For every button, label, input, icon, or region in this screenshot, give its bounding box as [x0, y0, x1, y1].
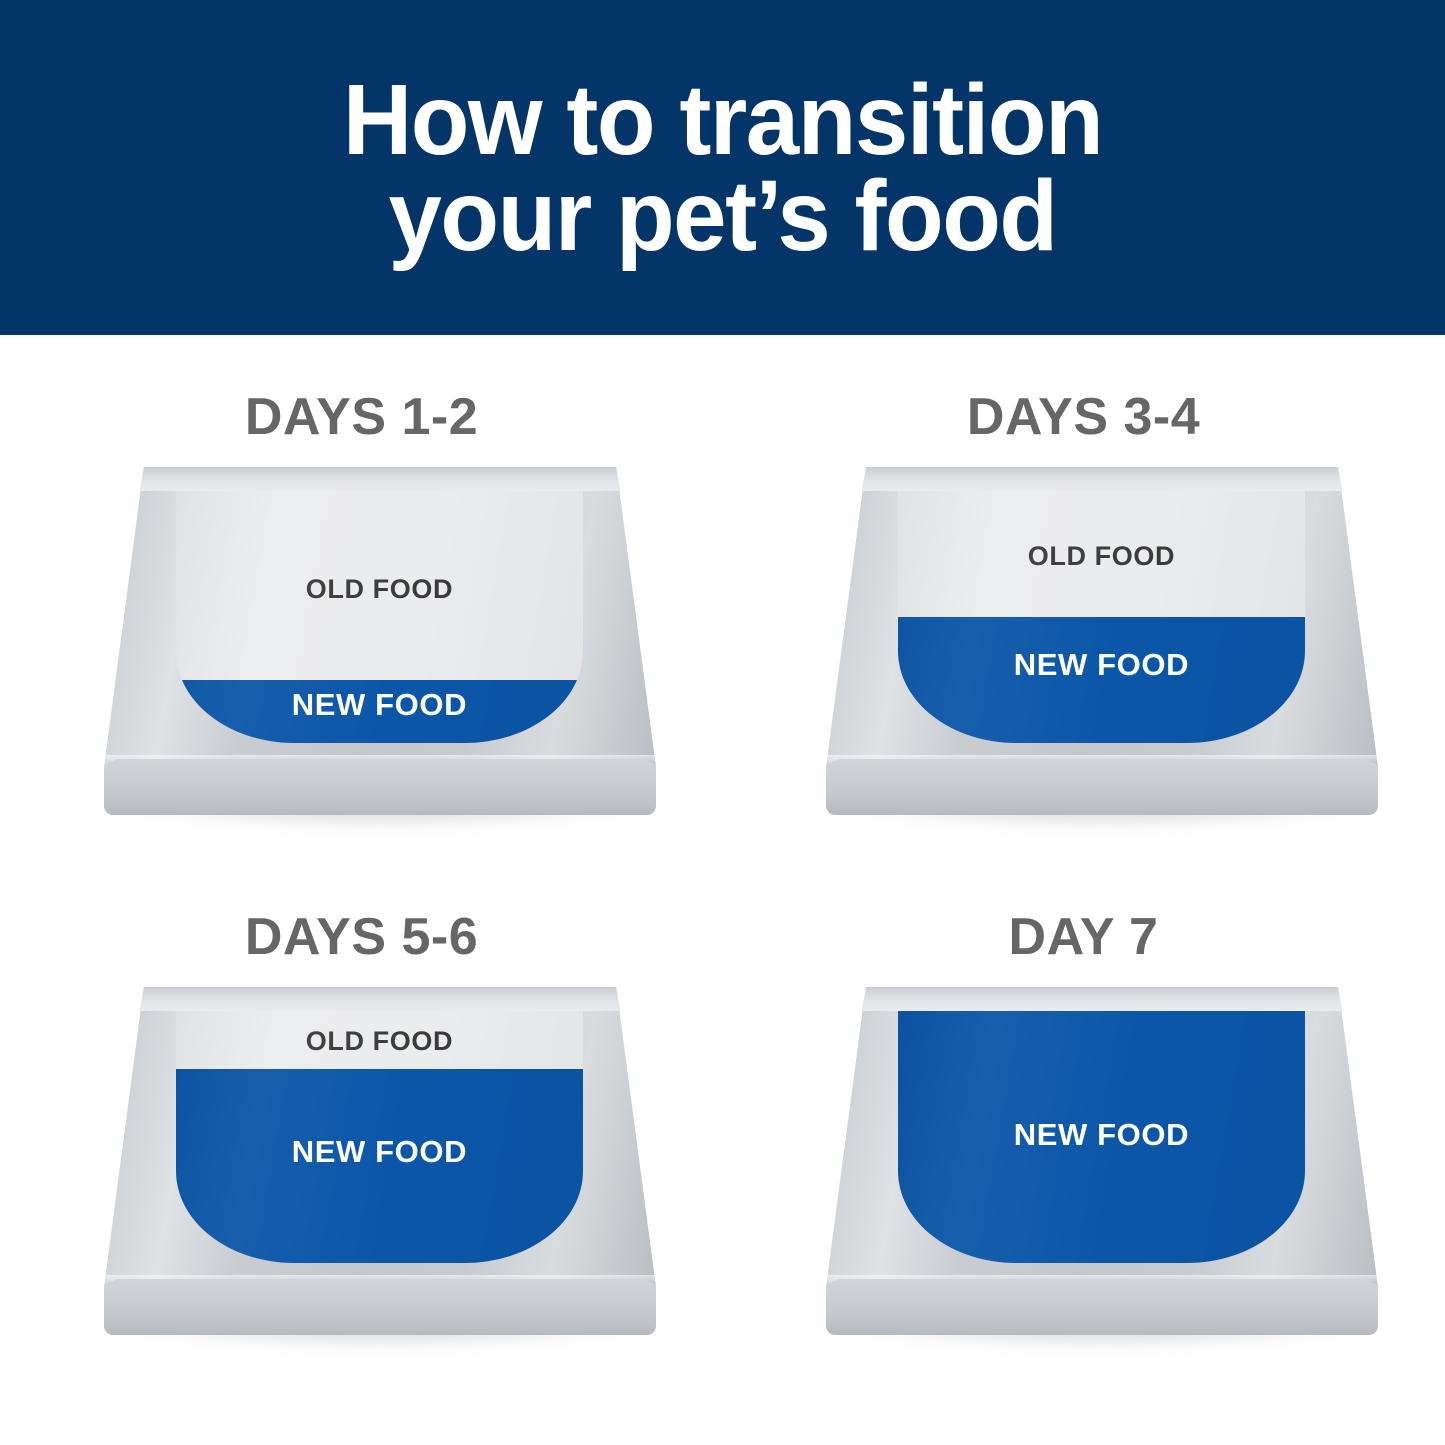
food-window: OLD FOOD NEW FOOD	[898, 491, 1304, 743]
food-bowl-day-7: NEW FOOD	[826, 987, 1378, 1335]
old-food-label: OLD FOOD	[176, 1026, 582, 1057]
bowl-base	[104, 759, 656, 815]
transition-step-day-7: DAY 7 NEW FOOD	[722, 855, 1445, 1410]
bowl-base	[104, 1279, 656, 1335]
bowl-rim	[826, 467, 1378, 491]
new-food-label: NEW FOOD	[898, 647, 1304, 683]
bowl-rim	[826, 987, 1378, 1011]
transition-step-days-1-2: DAYS 1-2 OLD FOOD NEW FOOD	[0, 335, 723, 890]
step-title-days-5-6: DAYS 5-6	[0, 907, 723, 967]
bowl-base	[826, 759, 1378, 815]
food-bowl-days-5-6: OLD FOOD NEW FOOD	[104, 987, 656, 1335]
new-food-label: NEW FOOD	[898, 1117, 1304, 1153]
bowl-rim	[104, 467, 656, 491]
page-title: How to transition your pet’s food	[285, 72, 1160, 264]
food-bowl-days-1-2: OLD FOOD NEW FOOD	[104, 467, 656, 815]
bowl-rim	[104, 987, 656, 1011]
transition-step-days-3-4: DAYS 3-4 OLD FOOD NEW FOOD	[722, 335, 1445, 890]
new-food-label: NEW FOOD	[176, 1134, 582, 1170]
infographic-page: How to transition your pet’s food DAYS 1…	[0, 0, 1445, 1445]
transition-steps-grid: DAYS 1-2 OLD FOOD NEW FOOD DAYS 3-4	[0, 335, 1445, 1445]
step-title-days-3-4: DAYS 3-4	[722, 387, 1445, 447]
old-food-label: OLD FOOD	[898, 541, 1304, 572]
transition-step-days-5-6: DAYS 5-6 OLD FOOD NEW FOOD	[0, 855, 723, 1410]
food-window: OLD FOOD NEW FOOD	[176, 1011, 582, 1263]
new-food-label: NEW FOOD	[176, 687, 582, 723]
bowl-base	[826, 1279, 1378, 1335]
step-title-day-7: DAY 7	[722, 907, 1445, 967]
food-window: NEW FOOD	[898, 1011, 1304, 1263]
food-window: OLD FOOD NEW FOOD	[176, 491, 582, 743]
old-food-label: OLD FOOD	[176, 574, 582, 605]
step-title-days-1-2: DAYS 1-2	[0, 387, 723, 447]
page-header: How to transition your pet’s food	[0, 0, 1445, 335]
food-bowl-days-3-4: OLD FOOD NEW FOOD	[826, 467, 1378, 815]
